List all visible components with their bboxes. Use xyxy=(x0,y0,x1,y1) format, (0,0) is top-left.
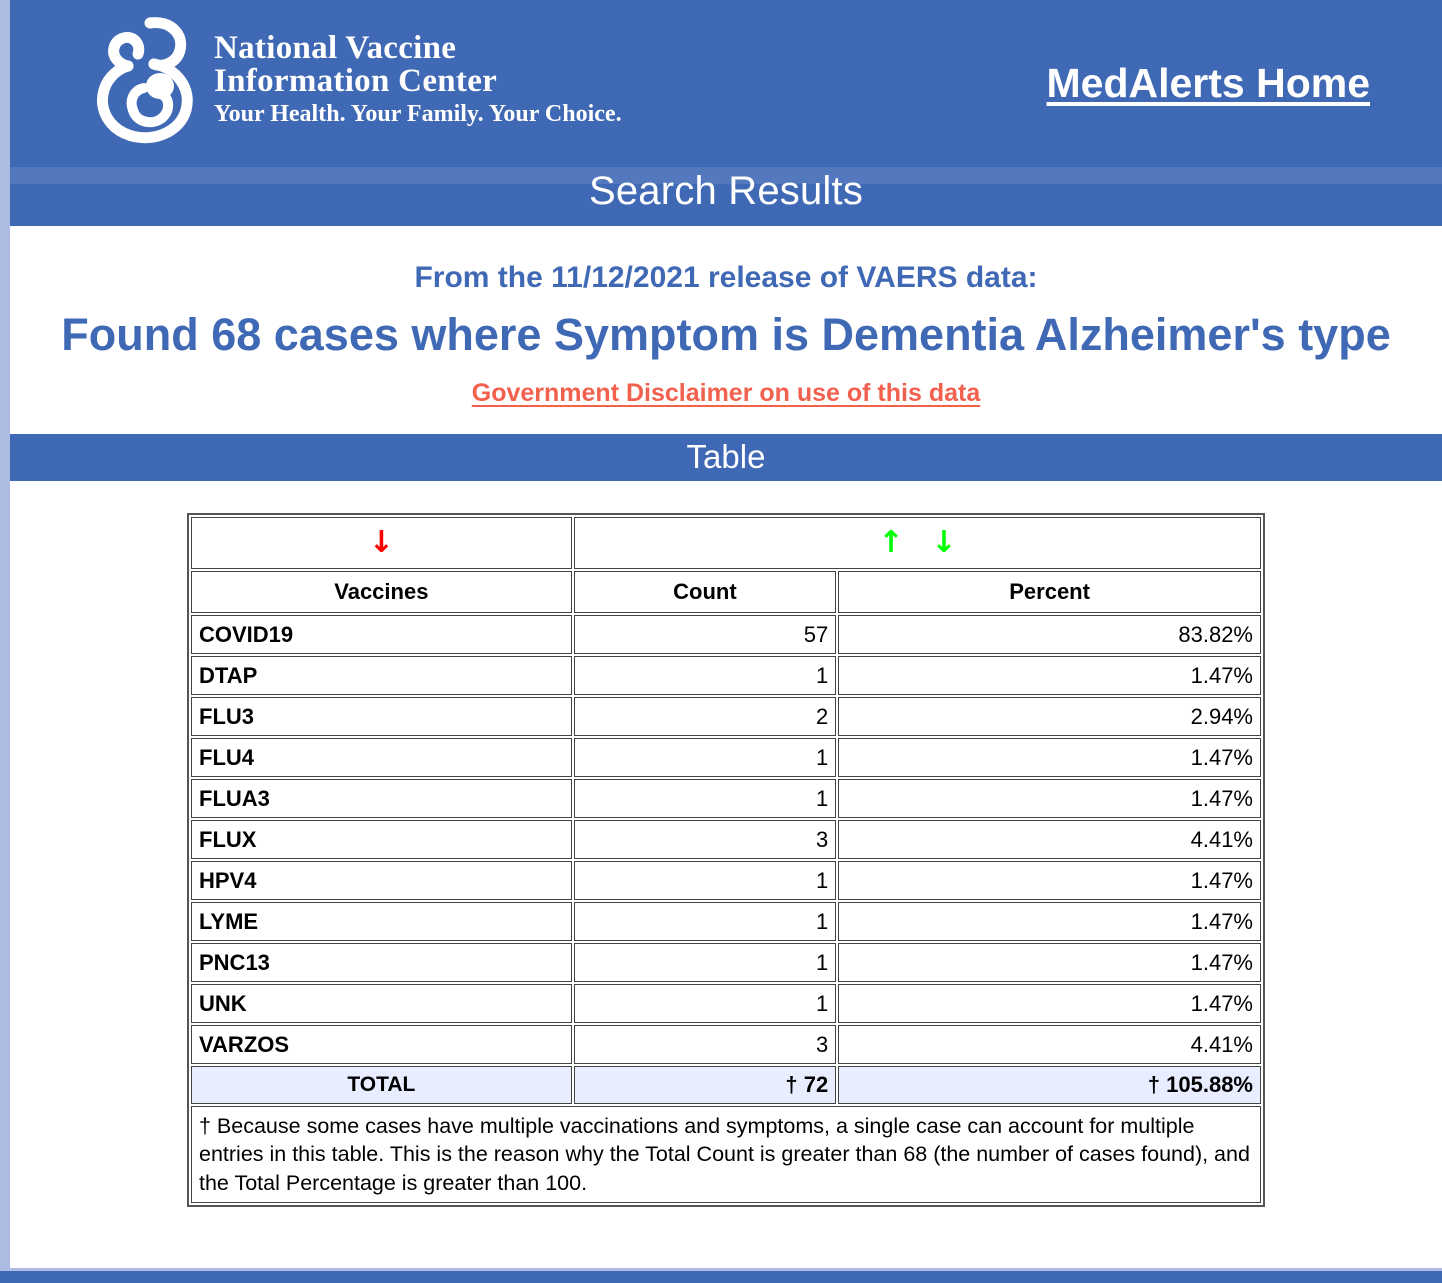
cell-count: 3 xyxy=(574,1025,836,1064)
cell-total-percent: † 105.88% xyxy=(838,1066,1261,1104)
cell-percent: 1.47% xyxy=(838,656,1261,695)
cell-total-label: TOTAL xyxy=(191,1066,572,1104)
column-header-count: Count xyxy=(574,571,836,613)
table-footnote: † Because some cases have multiple vacci… xyxy=(191,1106,1261,1203)
cell-vaccine: COVID19 xyxy=(191,615,572,654)
cell-count: 1 xyxy=(574,984,836,1023)
table-row: LYME 1 1.47% xyxy=(191,902,1261,941)
cell-percent: 1.47% xyxy=(838,902,1261,941)
page-left-border xyxy=(0,0,10,1283)
cell-count: 57 xyxy=(574,615,836,654)
brand-block: National Vaccine Information Center Your… xyxy=(10,14,622,144)
cell-count: 1 xyxy=(574,943,836,982)
cell-vaccine: FLU4 xyxy=(191,738,572,777)
medalerts-home-link[interactable]: MedAlerts Home xyxy=(1046,60,1370,107)
cell-vaccine: VARZOS xyxy=(191,1025,572,1064)
site-masthead: National Vaccine Information Center Your… xyxy=(10,0,1442,158)
cell-count: 1 xyxy=(574,902,836,941)
brand-line-1: National Vaccine xyxy=(214,32,622,66)
count-sort-cell: ↑ ↓ xyxy=(574,517,1261,569)
cell-total-count: † 72 xyxy=(574,1066,836,1104)
column-header-percent: Percent xyxy=(838,571,1261,613)
cell-count: 1 xyxy=(574,656,836,695)
sort-descending-vaccines-icon[interactable]: ↓ xyxy=(369,528,394,558)
table-row: FLU3 2 2.94% xyxy=(191,697,1261,736)
brand-tagline: Your Health. Your Family. Your Choice. xyxy=(214,102,622,126)
brand-line-2: Information Center xyxy=(214,65,622,99)
column-header-vaccines: Vaccines xyxy=(191,571,572,613)
cell-vaccine: FLUX xyxy=(191,820,572,859)
cell-percent: 1.47% xyxy=(838,984,1261,1023)
search-results-title: Search Results xyxy=(10,158,1442,226)
cell-vaccine: PNC13 xyxy=(191,943,572,982)
government-disclaimer-link[interactable]: Government Disclaimer on use of this dat… xyxy=(472,379,980,408)
cell-vaccine: FLU3 xyxy=(191,697,572,736)
search-results-banner: Search Results xyxy=(10,158,1442,223)
table-total-row: TOTAL † 72 † 105.88% xyxy=(191,1066,1261,1104)
cell-percent: 1.47% xyxy=(838,738,1261,777)
cell-count: 1 xyxy=(574,779,836,818)
cell-count: 3 xyxy=(574,820,836,859)
sort-ascending-count-icon[interactable]: ↑ xyxy=(878,528,903,558)
cell-percent: 2.94% xyxy=(838,697,1261,736)
cell-count: 1 xyxy=(574,738,836,777)
vaccines-sort-cell: ↓ xyxy=(191,517,572,569)
vaccine-results-table: ↓ ↑ ↓ Vaccines Count Percent COVID19 57 xyxy=(187,513,1265,1207)
table-row: FLUA3 1 1.47% xyxy=(191,779,1261,818)
mother-and-child-logo-icon xyxy=(88,14,200,144)
page-content: National Vaccine Information Center Your… xyxy=(10,0,1442,1283)
cell-vaccine: HPV4 xyxy=(191,861,572,900)
table-area: ↓ ↑ ↓ Vaccines Count Percent COVID19 57 xyxy=(10,481,1442,1207)
table-row: UNK 1 1.47% xyxy=(191,984,1261,1023)
cell-vaccine: UNK xyxy=(191,984,572,1023)
table-header-row: Vaccines Count Percent xyxy=(191,571,1261,613)
table-row: COVID19 57 83.82% xyxy=(191,615,1261,654)
table-row: PNC13 1 1.47% xyxy=(191,943,1261,982)
results-summary: From the 11/12/2021 release of VAERS dat… xyxy=(10,223,1442,434)
cell-percent: 1.47% xyxy=(838,779,1261,818)
page-title: Found 68 cases where Symptom is Dementia… xyxy=(10,309,1442,361)
cell-percent: 4.41% xyxy=(838,1025,1261,1064)
brand-text: National Vaccine Information Center Your… xyxy=(214,32,622,127)
table-row: FLUX 3 4.41% xyxy=(191,820,1261,859)
sort-descending-count-icon[interactable]: ↓ xyxy=(931,528,956,558)
table-row: HPV4 1 1.47% xyxy=(191,861,1261,900)
cell-percent: 1.47% xyxy=(838,861,1261,900)
cell-percent: 4.41% xyxy=(838,820,1261,859)
table-row: FLU4 1 1.47% xyxy=(191,738,1261,777)
cell-percent: 1.47% xyxy=(838,943,1261,982)
table-footnote-row: † Because some cases have multiple vacci… xyxy=(191,1106,1261,1203)
table-row: VARZOS 3 4.41% xyxy=(191,1025,1261,1064)
table-row: DTAP 1 1.47% xyxy=(191,656,1261,695)
sort-controls-row: ↓ ↑ ↓ xyxy=(191,517,1261,569)
table-section-banner: Table xyxy=(10,434,1442,481)
cell-vaccine: LYME xyxy=(191,902,572,941)
cell-count: 1 xyxy=(574,861,836,900)
page-bottom-border xyxy=(0,1271,1442,1283)
cell-count: 2 xyxy=(574,697,836,736)
release-date-line: From the 11/12/2021 release of VAERS dat… xyxy=(10,261,1442,295)
cell-percent: 83.82% xyxy=(838,615,1261,654)
cell-vaccine: DTAP xyxy=(191,656,572,695)
cell-vaccine: FLUA3 xyxy=(191,779,572,818)
